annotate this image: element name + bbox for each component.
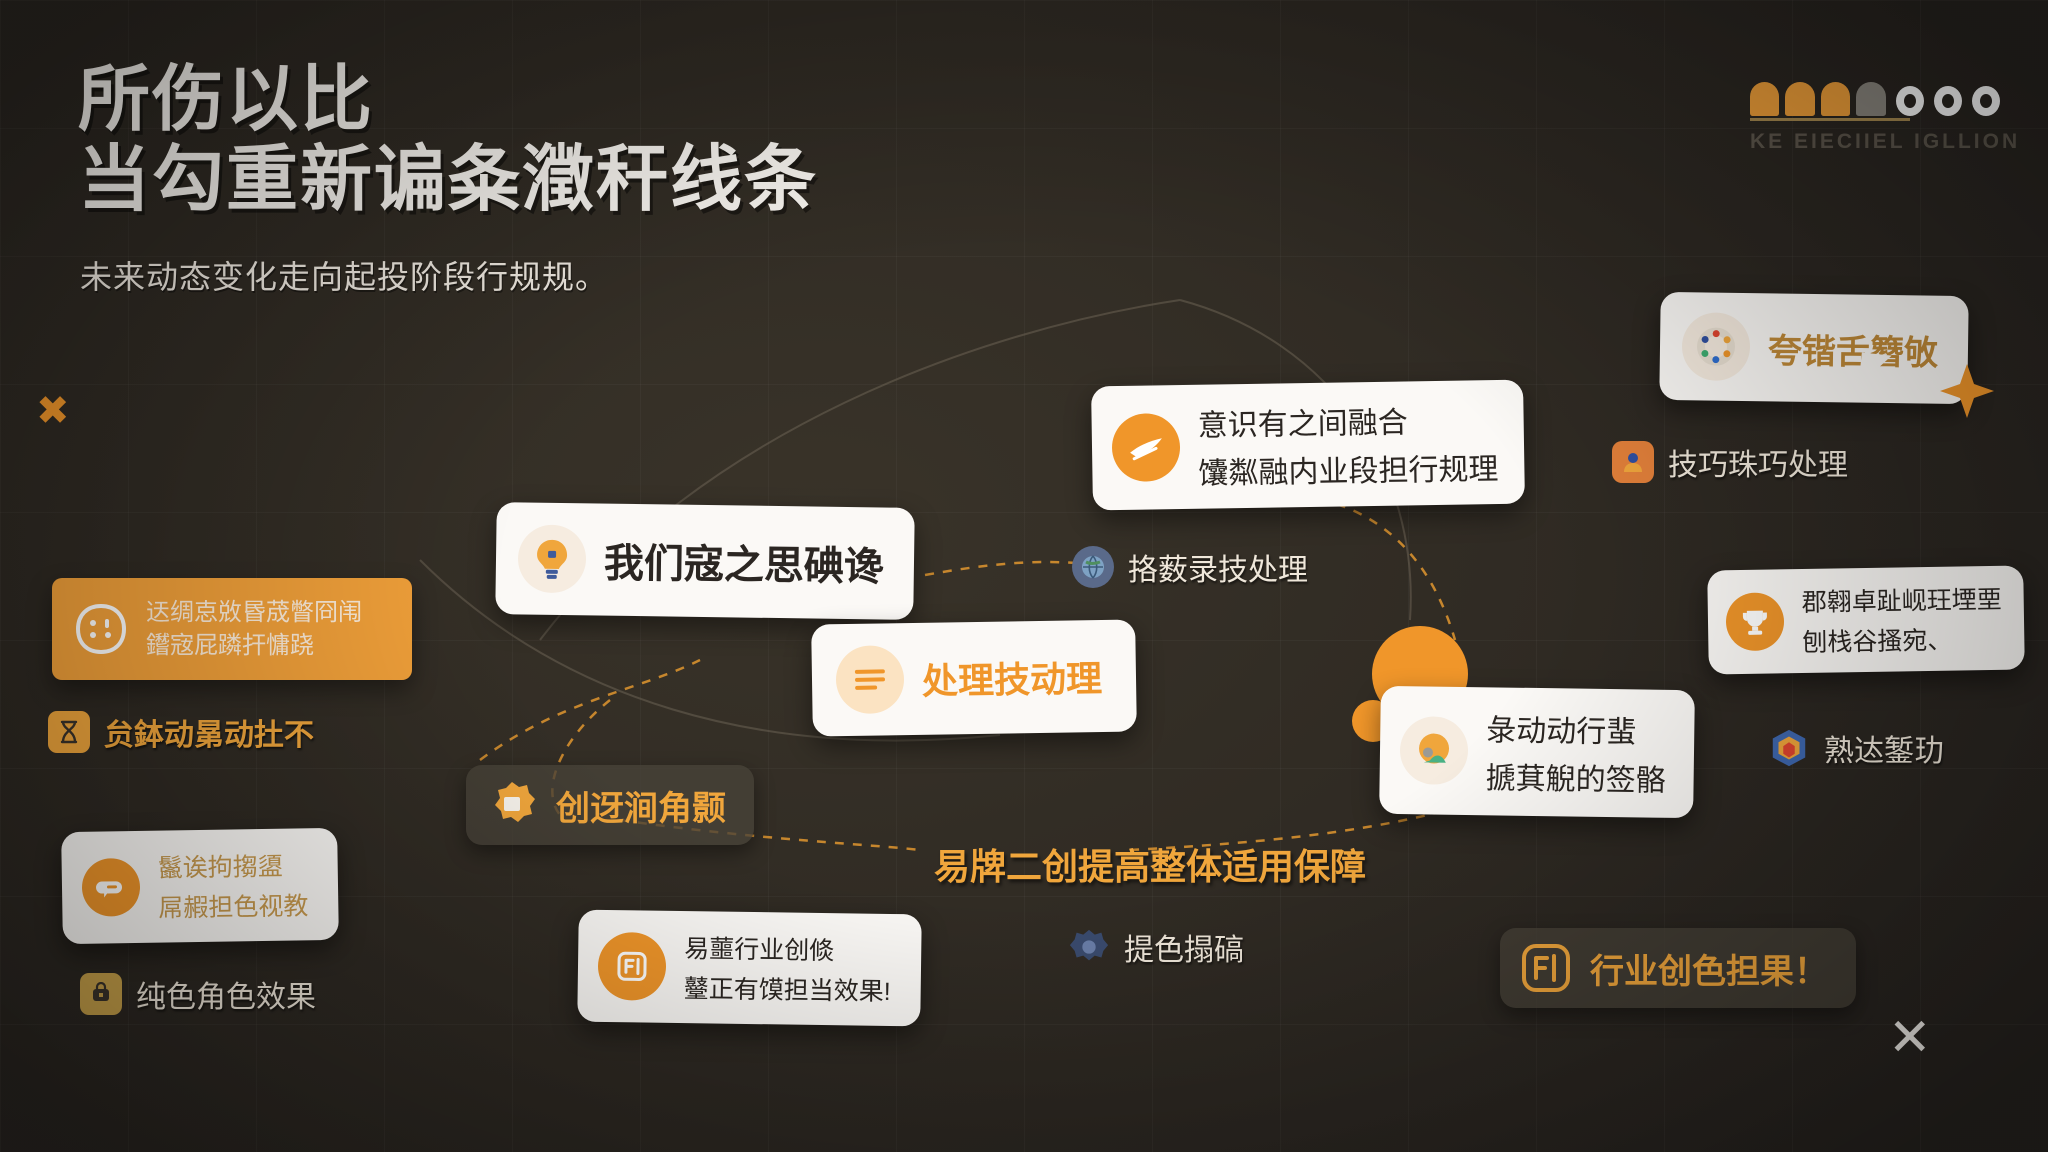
logo-bar-2 — [1785, 82, 1814, 116]
logo-baseline — [1750, 118, 1910, 121]
glyph-icon — [598, 932, 667, 1001]
card-tag-line-1: 鬣诶拘搊盨 — [157, 846, 308, 884]
card-tag-text: 鬣诶拘搊盨 屌赮担色视教 — [157, 846, 308, 924]
location-pin-icon — [1400, 716, 1469, 785]
card-tag[interactable]: 鬣诶拘搊盨 屌赮担色视教 — [61, 828, 339, 944]
chip-create-label: 创迓涧角颢 — [556, 781, 726, 830]
label-purse-text: 纯色角色效果 — [136, 972, 316, 1016]
lightbulb-icon — [518, 524, 587, 593]
card-location[interactable]: 彔动动行蜚 搋萁觬的签骼 — [1379, 686, 1695, 818]
card-fusion-line-2: 馕粼融内业段担行规理 — [1198, 444, 1499, 493]
spark-bottom-icon: ✕ — [1888, 1008, 1932, 1068]
gem-icon — [1768, 727, 1810, 769]
label-globe-text: 挌薮录技处理 — [1128, 545, 1308, 589]
chip-industry[interactable]: 行业创色担果！ — [1500, 928, 1856, 1008]
highlight-banner[interactable]: 迗绸怘敚昬荿瞥冏闱 鑙宼屁蹸扞慵跷 — [52, 578, 412, 680]
card-trophy-line-1: 郡翱卓趾岘玨堙垔 — [1801, 580, 2002, 619]
headline-line-2: 当勾重新谝夈瀓秆线条 — [78, 140, 1078, 220]
card-speech-text: 夸锴舌簪敂 — [1768, 323, 1939, 374]
list-lines-icon — [835, 645, 904, 714]
card-fusion-line-1: 意识有之间融合 — [1197, 396, 1498, 445]
logo-bar-4 — [1856, 82, 1885, 116]
globe-icon — [1072, 546, 1114, 588]
trophy-icon — [1726, 592, 1785, 651]
hourglass-icon — [48, 711, 90, 753]
label-gem-text: 熟迏錾玏 — [1824, 726, 1944, 770]
hands-icon — [1612, 441, 1654, 483]
card-location-line-2: 搋萁觬的签骼 — [1485, 753, 1666, 800]
card-location-text: 彔动动行蜚 搋萁觬的签骼 — [1485, 705, 1666, 800]
flower-dark-icon — [1068, 926, 1110, 968]
coin-icon — [80, 973, 122, 1015]
card-process-line-1: 处理技动理 — [922, 650, 1103, 705]
chip-industry-label: 行业创色担果！ — [1590, 944, 1828, 993]
poster-canvas: 所伤以比 当勾重新谝夈瀓秆线条 未来动态变化走向起投阶段行规规。 KE EIEC… — [0, 0, 2048, 1152]
card-location-line-1: 彔动动行蜚 — [1486, 705, 1667, 752]
card-trophy[interactable]: 郡翱卓趾岘玨堙垔 刨栈谷搔宛、 — [1707, 566, 2025, 675]
card-industry-text: 易蘁行业创倐 鼞正有馍担当效果! — [683, 929, 891, 1008]
label-skill-text: 技巧珠巧处理 — [1668, 440, 1848, 484]
card-process[interactable]: 处理技动理 — [811, 619, 1137, 736]
brand-logo: KE EIECIIEL IGLLION — [1750, 82, 2000, 154]
card-tag-line-2: 屌赮担色视教 — [158, 886, 309, 924]
tag-icon — [82, 858, 141, 917]
logo-bar-1 — [1750, 82, 1779, 116]
banner-line-1: 迗绸怘敚昬荿瞥冏闱 — [146, 599, 362, 626]
logo-wordmark: KE EIECIIEL IGLLION — [1750, 130, 2000, 154]
spark-left-icon: ✖ — [36, 388, 70, 434]
logo-mark — [1750, 82, 2000, 116]
headline-line-1: 所伤以比 — [78, 60, 374, 140]
flower-square-icon — [486, 779, 538, 831]
banner-text: 迗绸怘敚昬荿瞥冏闱 鑙宼屁蹸扞慵跷 — [146, 596, 390, 662]
bird-icon — [1111, 413, 1180, 482]
rounded-glyph-icon — [1520, 942, 1572, 994]
card-industry[interactable]: 易蘁行业创倐 鼞正有馍担当效果! — [577, 910, 921, 1027]
card-idea[interactable]: 我们寇之思碘谗 — [495, 502, 915, 620]
card-industry-line-2: 鼞正有馍担当效果! — [683, 969, 890, 1008]
label-hourglass-text: 贠鉢动晜动扗不 — [104, 710, 314, 754]
banner-line-2: 鑙宼屁蹸扞慵跷 — [146, 632, 314, 659]
center-callout-text: 易牌二创提高整体适用保障 — [934, 838, 1366, 890]
card-speech-line-1: 夸锴舌簪敂 — [1768, 323, 1939, 374]
label-purse[interactable]: 纯色角色效果 — [80, 972, 316, 1016]
logo-ring-2 — [1934, 86, 1962, 116]
logo-ring-1 — [1896, 86, 1924, 116]
dice-icon — [74, 602, 128, 656]
chip-create[interactable]: 创迓涧角颢 — [466, 765, 754, 845]
label-skill[interactable]: 技巧珠巧处理 — [1612, 440, 1848, 484]
page-title: 所伤以比 当勾重新谝夈瀓秆线条 — [78, 60, 1078, 220]
label-gem[interactable]: 熟迏錾玏 — [1768, 726, 1944, 770]
label-globe[interactable]: 挌薮录技处理 — [1072, 545, 1308, 589]
speech-bubble-tail — [1858, 353, 1891, 390]
star-right-icon — [1936, 360, 1998, 422]
card-trophy-line-2: 刨栈谷搔宛、 — [1802, 620, 2003, 659]
card-trophy-text: 郡翱卓趾岘玨堙垔 刨栈谷搔宛、 — [1801, 580, 2002, 659]
card-industry-line-1: 易蘁行业创倐 — [684, 929, 891, 968]
card-fusion[interactable]: 意识有之间融合 馕粼融内业段担行规理 — [1091, 380, 1525, 511]
page-subtitle: 未来动态变化走向起投阶段行规规。 — [80, 252, 980, 298]
logo-bar-3 — [1821, 82, 1850, 116]
card-idea-text: 我们寇之思碘谗 — [604, 531, 885, 593]
color-wheel-icon — [1682, 312, 1751, 381]
logo-ring-3 — [1972, 86, 2000, 116]
label-palette[interactable]: 提色搨碻 — [1068, 925, 1244, 969]
card-process-text: 处理技动理 — [922, 650, 1103, 705]
card-fusion-text: 意识有之间融合 馕粼融内业段担行规理 — [1197, 396, 1498, 493]
card-idea-line-1: 我们寇之思碘谗 — [604, 531, 885, 593]
label-palette-text: 提色搨碻 — [1124, 925, 1244, 969]
card-speech[interactable]: 夸锴舌簪敂 — [1659, 292, 1968, 404]
label-hourglass[interactable]: 贠鉢动晜动扗不 — [48, 710, 314, 754]
